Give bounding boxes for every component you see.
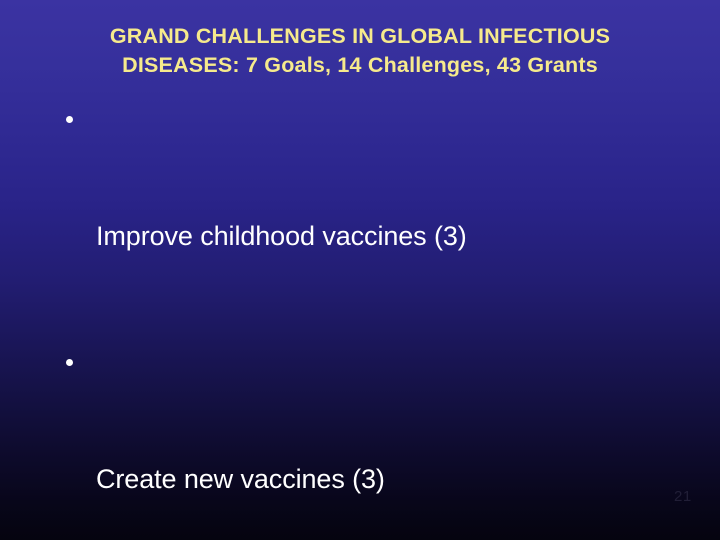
presentation-slide: GRAND CHALLENGES IN GLOBAL INFECTIOUS DI…	[0, 0, 720, 540]
bullet-point-icon	[66, 359, 73, 366]
page-number: 21	[674, 488, 692, 505]
bullet-point-icon	[66, 116, 73, 123]
list-item-label: Create new vaccines (3)	[96, 460, 708, 499]
slide-title: GRAND CHALLENGES IN GLOBAL INFECTIOUS DI…	[0, 22, 720, 80]
list-item-label: Improve childhood vaccines (3)	[96, 217, 708, 256]
slide-title-line-1: GRAND CHALLENGES IN GLOBAL INFECTIOUS	[0, 22, 720, 51]
bullet-list: Improve childhood vaccines (3) Create ne…	[58, 100, 708, 540]
list-item: Create new vaccines (3)	[58, 343, 708, 540]
slide-title-line-2: DISEASES: 7 Goals, 14 Challenges, 43 Gra…	[0, 51, 720, 80]
list-item: Improve childhood vaccines (3)	[58, 100, 708, 334]
